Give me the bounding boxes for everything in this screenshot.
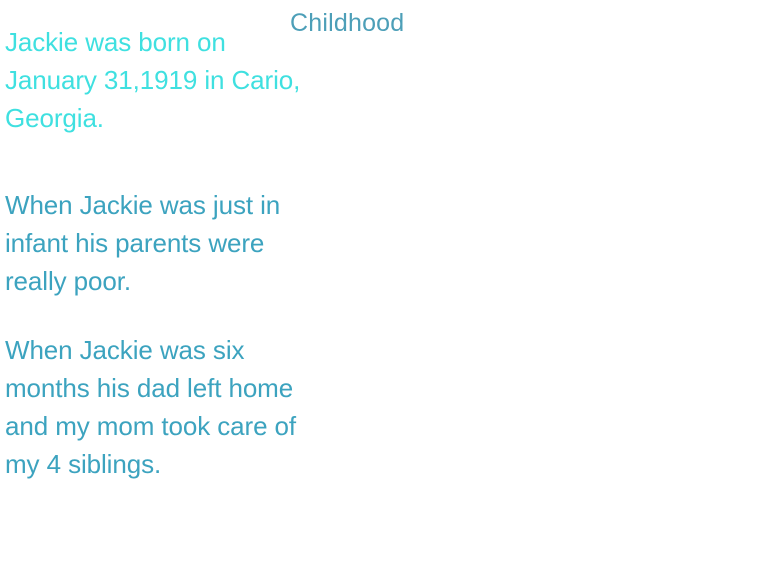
paragraph-birth: Jackie was born on January 31,1919 in Ca… (5, 23, 305, 137)
left-text-column: Jackie was born on January 31,1919 in Ca… (0, 0, 384, 561)
slide-canvas: Childhood Jackie was born on January 31,… (0, 0, 768, 561)
paragraph-six-months: When Jackie was six months his dad left … (5, 331, 305, 483)
paragraph-infant: When Jackie was just in infant his paren… (5, 186, 305, 300)
right-text-column: When Jackie got into high school he play… (384, 0, 768, 561)
